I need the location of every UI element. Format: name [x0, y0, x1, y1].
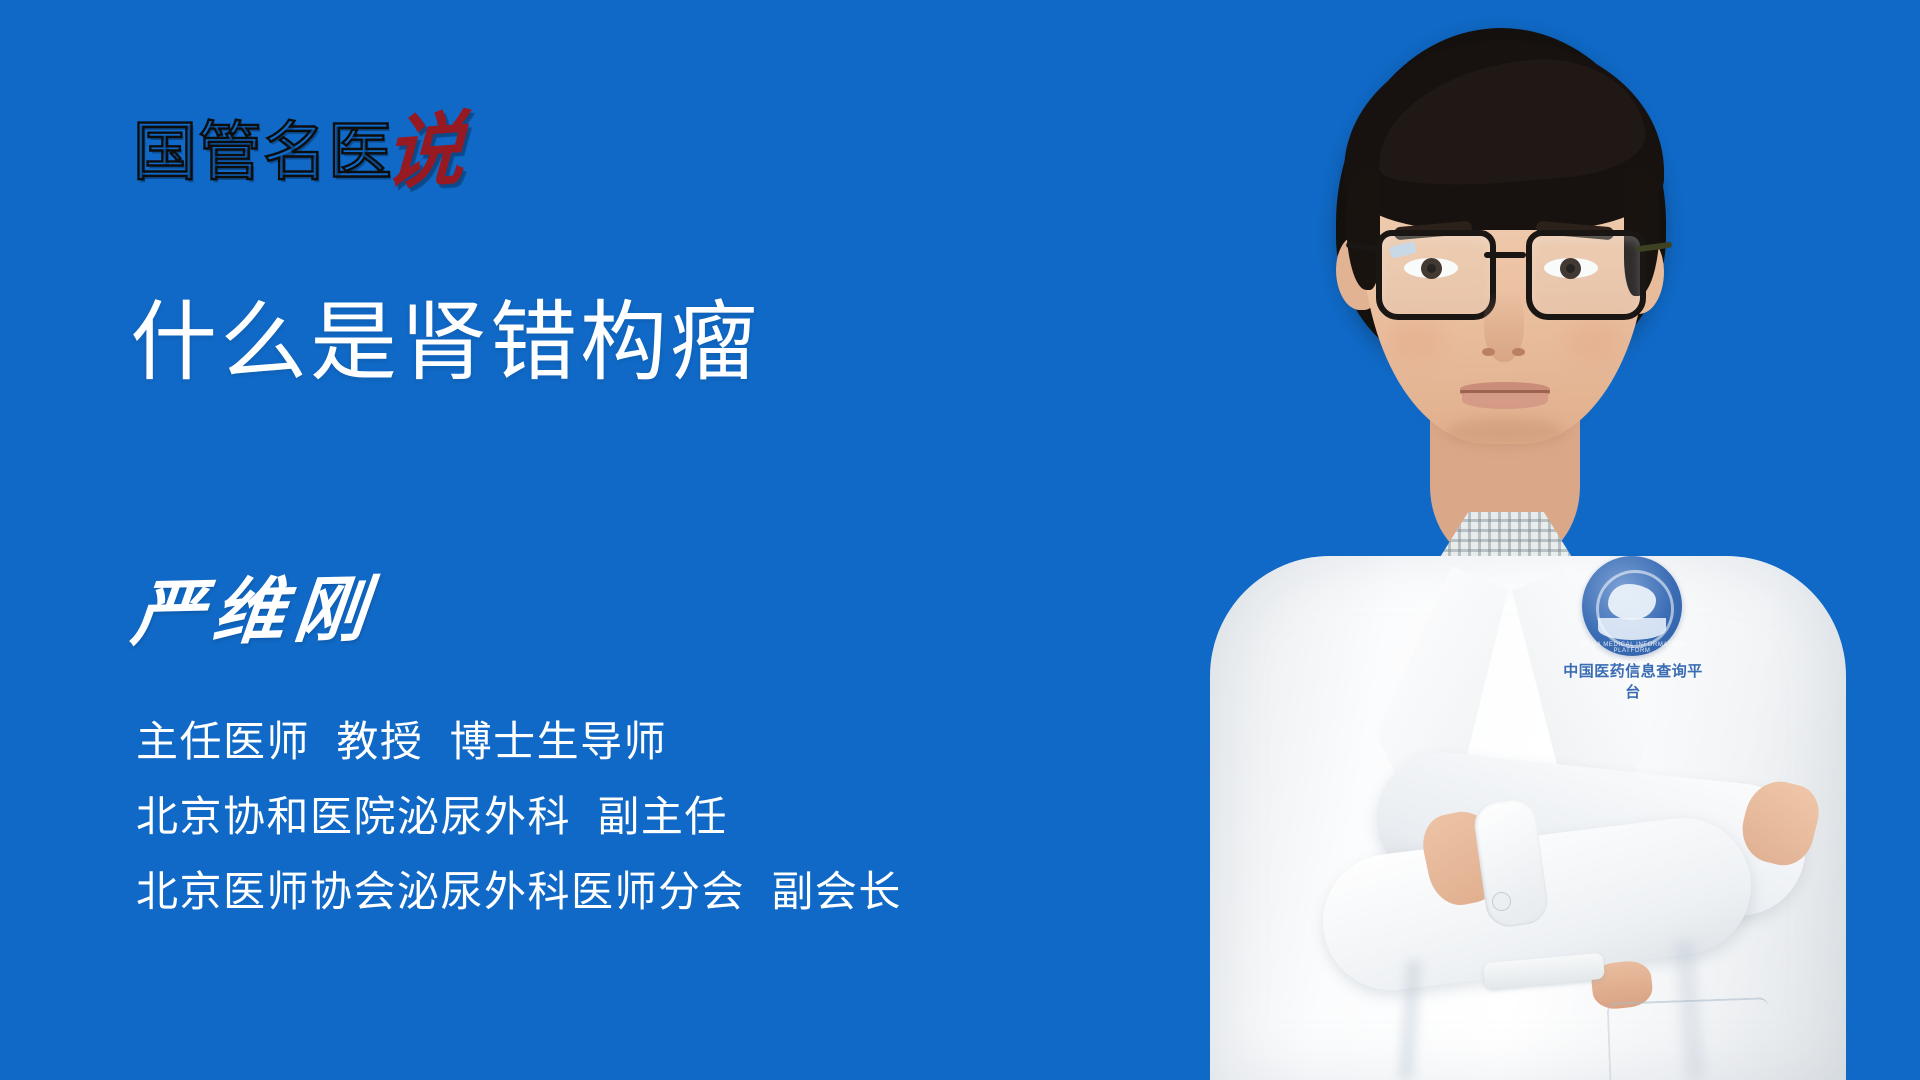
nostril-right [1512, 348, 1525, 356]
brand-logo: 国管名医 说 [133, 98, 463, 184]
cheek-right [1566, 320, 1622, 360]
mouth-line [1460, 390, 1550, 393]
chin-shadow [1446, 418, 1564, 446]
badge-chinese-text: 中国医药信息查询平台 [1558, 660, 1708, 702]
doctor-name: 严维刚 [128, 573, 379, 650]
lower-lip [1462, 392, 1548, 409]
doctor-credentials: 主任医师 教授 博士生导师 北京协和医院泌尿外科 副主任 北京医师协会泌尿外科医… [136, 718, 902, 915]
nostril-left [1482, 348, 1495, 356]
eyeglass-lens-left [1376, 230, 1496, 320]
eyeglass-lens-right [1526, 230, 1646, 320]
credential-line-3: 北京医师协会泌尿外科医师分会 副会长 [136, 868, 902, 915]
badge-wings-icon [1598, 618, 1666, 640]
chest-badge: CHINA MEDICAL INFORMATION PLATFORM 中国医药信… [1558, 556, 1708, 696]
credential-line-1: 主任医师 教授 博士生导师 [136, 718, 902, 765]
coat-pocket [1607, 997, 1772, 1080]
doctor-portrait: CHINA MEDICAL INFORMATION PLATFORM 中国医药信… [1140, 0, 1920, 1080]
brand-logo-main-text: 国管名医 [133, 120, 393, 184]
page-title: 什么是肾错构瘤 [130, 296, 760, 390]
cuff-button [1492, 892, 1511, 911]
eyeglass-bridge [1484, 252, 1526, 258]
credential-line-2: 北京协和医院泌尿外科 副主任 [136, 793, 902, 840]
brand-logo-accent-text: 说 [383, 112, 465, 192]
video-title-card: 国管名医 说 什么是肾错构瘤 严维刚 主任医师 教授 博士生导师 北京协和医院泌… [0, 0, 1920, 1080]
cheek-left [1388, 320, 1444, 360]
badge-english-text: CHINA MEDICAL INFORMATION PLATFORM [1574, 642, 1690, 654]
